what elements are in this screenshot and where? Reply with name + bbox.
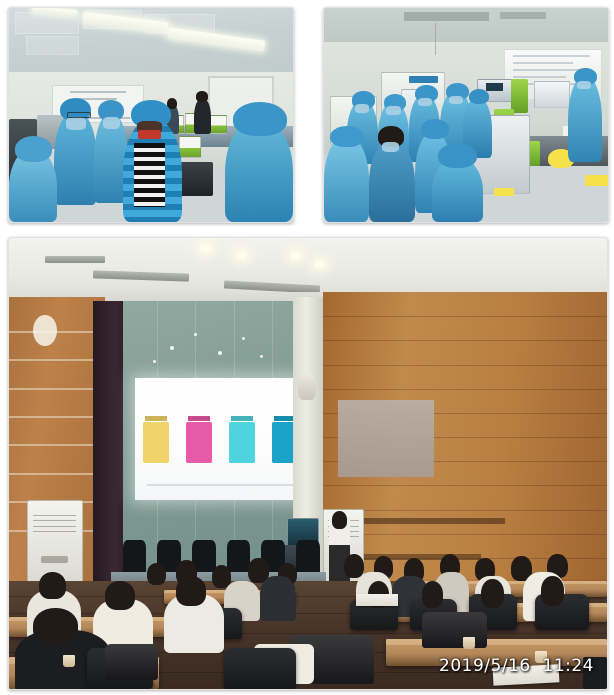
surgical-cap bbox=[438, 143, 478, 169]
face-mask bbox=[103, 117, 120, 129]
eyeglasses bbox=[67, 112, 90, 119]
wall-speaker-icon bbox=[298, 373, 316, 400]
audience-head bbox=[541, 576, 564, 605]
face-mask bbox=[449, 96, 463, 105]
audience-head bbox=[147, 563, 166, 586]
face-mask bbox=[382, 142, 399, 153]
paper-sheet bbox=[356, 594, 398, 605]
reagent-bottle bbox=[511, 79, 528, 113]
analyzer-display bbox=[486, 83, 503, 92]
projector-sparkle bbox=[153, 360, 156, 363]
audience-head bbox=[39, 572, 66, 599]
photo-lab-training-left bbox=[8, 7, 294, 223]
person-gowned bbox=[324, 136, 369, 222]
photo-lab-training-right bbox=[323, 7, 609, 223]
audience-body bbox=[260, 576, 296, 621]
wall-conduit bbox=[435, 23, 436, 55]
paper-cup bbox=[463, 637, 475, 649]
surgical-cap bbox=[15, 136, 52, 162]
photo-lecture-content: 2019/5/16 11:24 bbox=[9, 238, 607, 689]
audience-head bbox=[33, 608, 78, 644]
lab-supplies bbox=[534, 81, 570, 109]
surgical-cap bbox=[330, 126, 364, 147]
photo-timestamp: 2019/5/16 11:24 bbox=[439, 656, 594, 676]
slide-icon-2 bbox=[186, 422, 212, 463]
audience-chair bbox=[224, 648, 296, 689]
ceiling-vent bbox=[500, 12, 545, 18]
reagent-box bbox=[179, 136, 201, 157]
person-instructor bbox=[568, 76, 602, 162]
ceiling-downlight bbox=[314, 261, 325, 268]
photo-collage: 2019/5/16 11:24 bbox=[0, 0, 614, 695]
ceiling-downlight bbox=[236, 252, 247, 259]
presenter-head bbox=[332, 511, 348, 529]
reagent-box bbox=[208, 115, 227, 134]
striped-collar bbox=[134, 143, 165, 207]
audience-head bbox=[176, 576, 206, 605]
backpack bbox=[105, 644, 159, 680]
sticky-note bbox=[494, 188, 514, 197]
person-head bbox=[196, 91, 207, 102]
face-mask bbox=[138, 130, 161, 139]
ceiling-tile bbox=[26, 36, 79, 55]
ceiling-vent bbox=[404, 12, 489, 21]
audience-head bbox=[105, 581, 135, 610]
surgical-cap bbox=[233, 102, 287, 136]
audience-head bbox=[481, 579, 504, 608]
wall-light-fixture bbox=[33, 315, 57, 347]
surgical-cap bbox=[469, 89, 489, 104]
paper-cup bbox=[63, 655, 75, 667]
slide-icon-3 bbox=[229, 422, 255, 463]
surgical-cap bbox=[421, 119, 449, 138]
face-mask bbox=[66, 117, 86, 130]
face-mask bbox=[355, 104, 369, 113]
audience-head bbox=[422, 581, 444, 608]
slide-icon-1 bbox=[143, 422, 169, 463]
backpack bbox=[422, 612, 488, 648]
ceiling-slot bbox=[45, 256, 105, 263]
face-mask bbox=[418, 98, 432, 107]
face-mask bbox=[577, 81, 591, 90]
wall-panel bbox=[338, 400, 434, 477]
person-observer bbox=[194, 98, 211, 134]
face-mask bbox=[386, 106, 400, 115]
person-seated bbox=[369, 141, 414, 222]
photo-lab-left-content bbox=[9, 8, 293, 222]
photo-lecture-hall: 2019/5/16 11:24 bbox=[8, 237, 608, 690]
sticky-note bbox=[585, 175, 608, 186]
photo-lab-right-content bbox=[324, 8, 608, 222]
lab-instrument bbox=[179, 162, 213, 196]
freezer-panel bbox=[409, 76, 437, 82]
